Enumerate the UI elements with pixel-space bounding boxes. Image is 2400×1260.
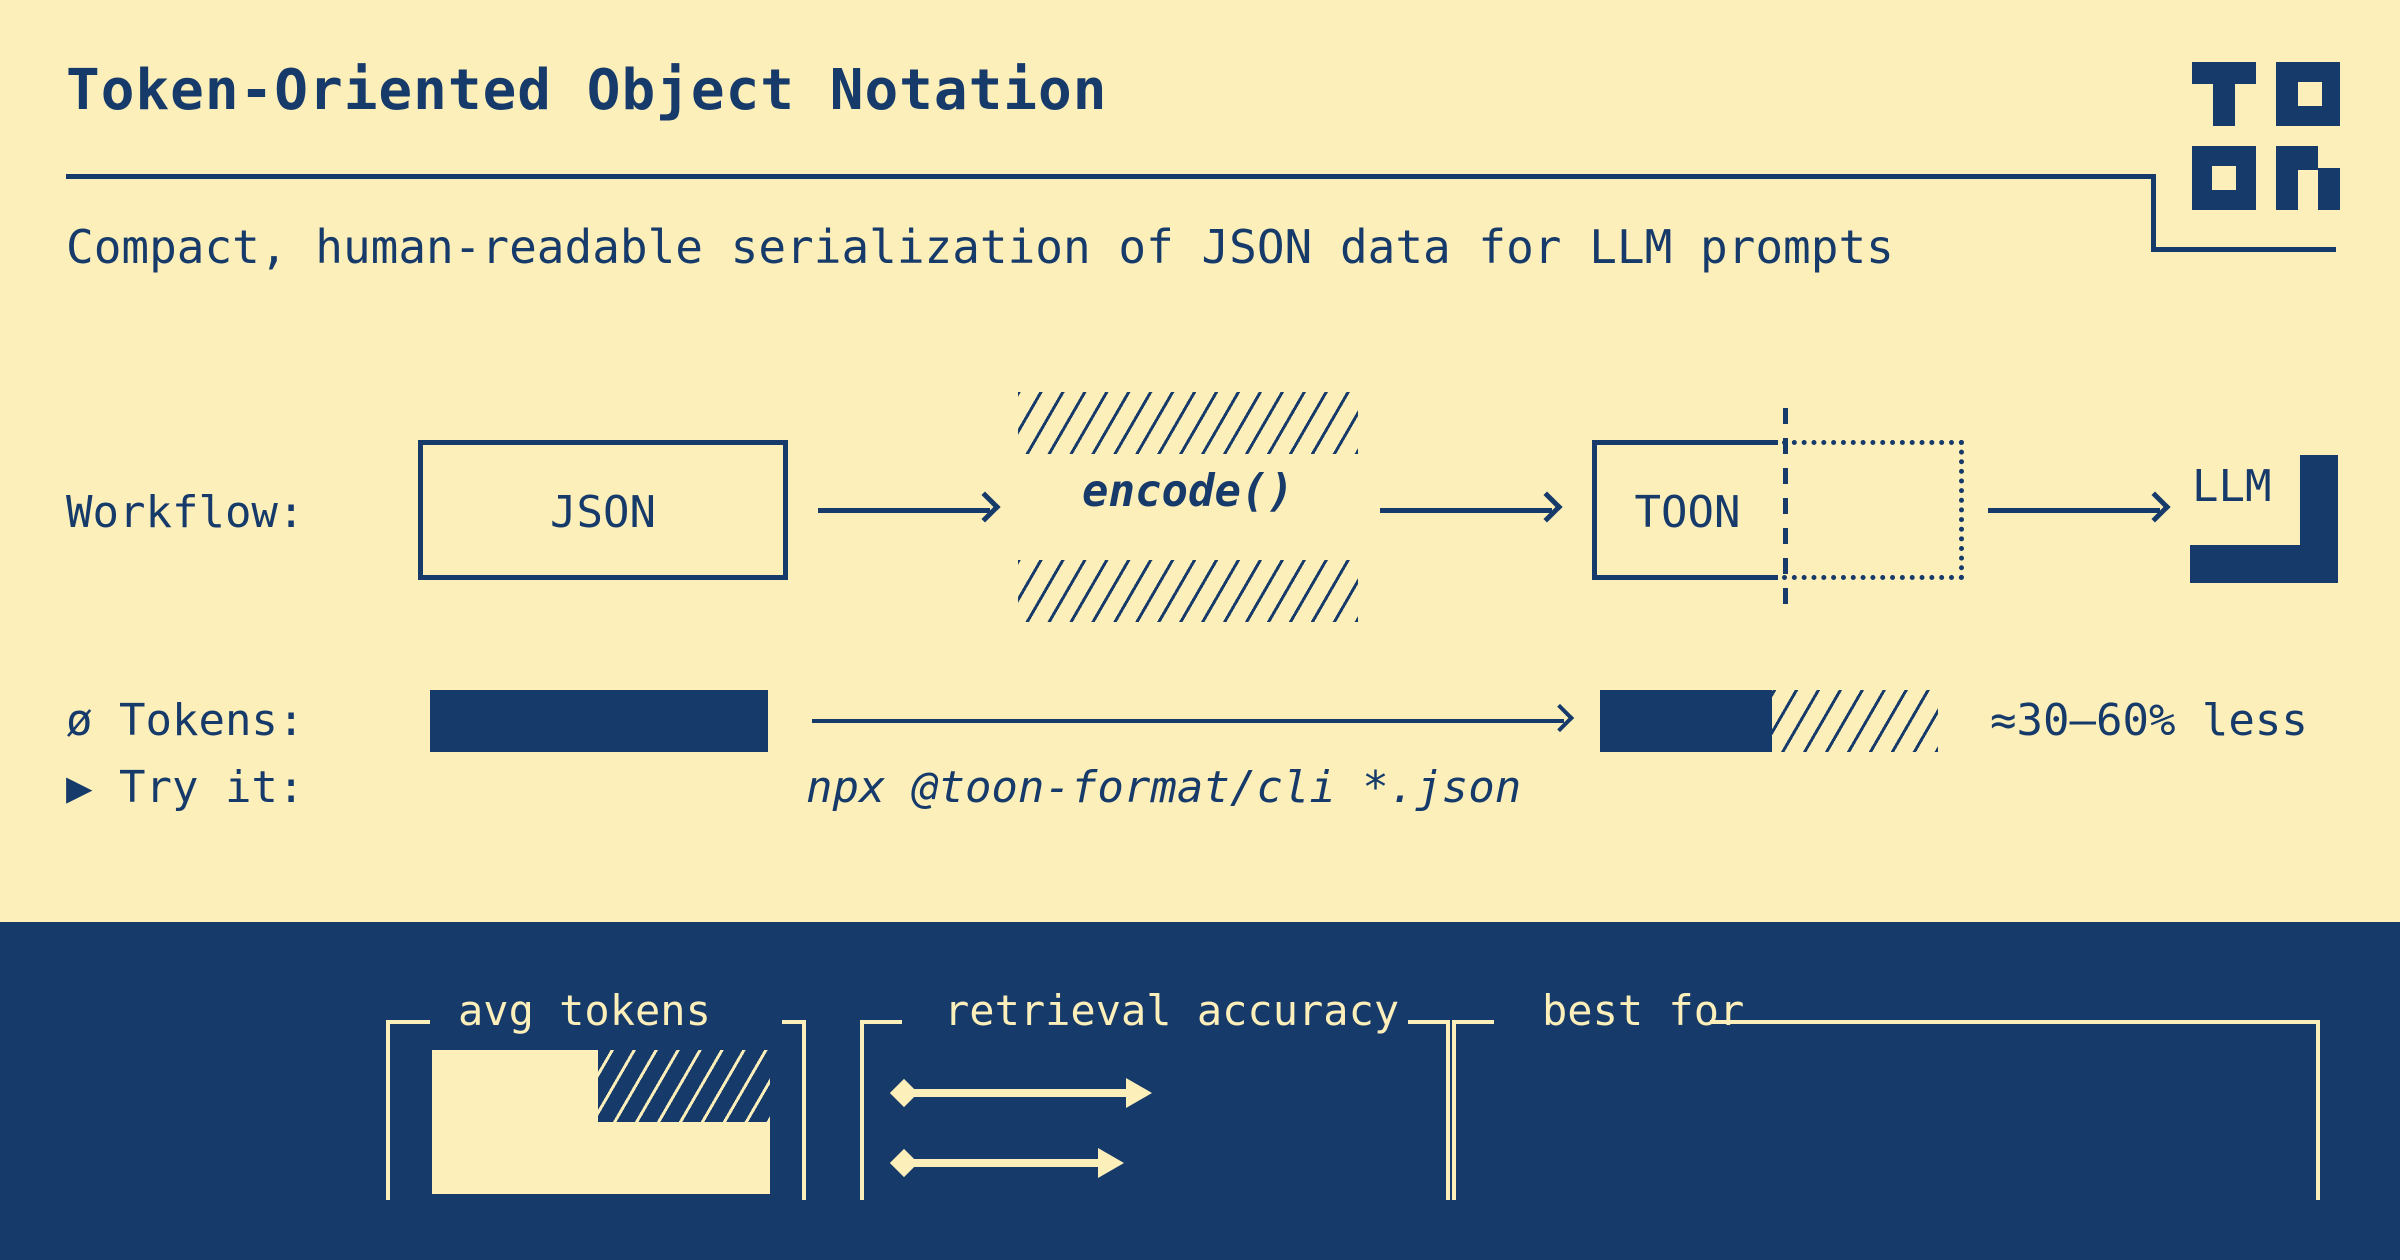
footer-row-arrow-json-icon: → bbox=[244, 1131, 268, 1177]
workflow-arrow-3-icon bbox=[1988, 490, 2178, 530]
accuracy-value-toon: 73.9% bbox=[1186, 1062, 1324, 1116]
tokens-bar-json bbox=[430, 690, 768, 752]
panel-retrieval-accuracy-title: retrieval accuracy bbox=[944, 986, 1399, 1035]
workflow-node-json: JSON bbox=[418, 440, 788, 580]
workflow-arrow-2-icon bbox=[1380, 490, 1570, 530]
workflow-node-toon-dotted bbox=[1782, 440, 1964, 580]
infographic-page: Token-Oriented Object Notation Compact, … bbox=[0, 0, 2400, 1260]
encode-hatch-bottom bbox=[1018, 560, 1358, 622]
tokens-bar-toon-hatch bbox=[1772, 690, 1938, 752]
accuracy-arrow-json-icon bbox=[894, 1148, 1128, 1178]
footer-bar-toon-hatch bbox=[598, 1050, 770, 1122]
tokens-saving-text: ≈30–60% less bbox=[1990, 695, 2308, 746]
workflow-arrow-1-icon bbox=[818, 490, 1008, 530]
page-subtitle: Compact, human-readable serialization of… bbox=[66, 220, 1894, 274]
accuracy-arrow-toon-icon bbox=[894, 1078, 1154, 1108]
workflow-node-toon-solid: TOON bbox=[1592, 440, 1778, 580]
workflow-toon-divider bbox=[1783, 408, 1788, 612]
encode-hatch-top bbox=[1018, 392, 1358, 454]
footer-bar-toon bbox=[432, 1050, 770, 1122]
panel-avg-tokens-title: avg tokens bbox=[458, 986, 711, 1035]
try-it-label: ▶ Try it: bbox=[66, 762, 304, 813]
best-for-line-toon: repeated structure • tables bbox=[1498, 1062, 2213, 1113]
workflow-node-json-label: JSON bbox=[423, 487, 783, 538]
accuracy-value-json: 69.7% bbox=[1186, 1131, 1324, 1185]
header-divider-step-horizontal bbox=[2151, 247, 2336, 252]
footer-row-label-json: JSON bbox=[66, 1131, 172, 1182]
footer-bar-toon-fill bbox=[432, 1050, 598, 1122]
workflow-label: Workflow: bbox=[66, 487, 304, 538]
llm-block-horizontal bbox=[2190, 545, 2338, 583]
logo-glyph-n bbox=[2276, 146, 2340, 210]
tokens-comparison-arrow-icon bbox=[812, 703, 1582, 739]
toon-logo bbox=[2192, 62, 2340, 210]
footer-row-arrow-toon-icon: → bbox=[244, 1062, 268, 1108]
best-for-line-json: varying fields • deep trees bbox=[1498, 1131, 2213, 1182]
header-divider bbox=[66, 174, 2156, 179]
footer-bar-json bbox=[432, 1122, 770, 1194]
workflow-node-toon: TOON bbox=[1592, 440, 1964, 580]
workflow-node-llm-label: LLM bbox=[2192, 461, 2271, 512]
tokens-bar-toon bbox=[1600, 690, 1938, 752]
logo-glyph-t bbox=[2192, 62, 2256, 126]
logo-glyph-o-2 bbox=[2192, 146, 2256, 210]
workflow-node-encode: encode() bbox=[1018, 392, 1358, 622]
header-divider-step-vertical bbox=[2151, 174, 2156, 252]
panel-best-for-title: best for bbox=[1542, 986, 1744, 1035]
footer-row-label-toon: TOON bbox=[66, 1062, 172, 1113]
logo-glyph-o-1 bbox=[2276, 62, 2340, 126]
page-title: Token-Oriented Object Notation bbox=[66, 58, 1107, 123]
workflow-node-llm: LLM bbox=[2190, 455, 2338, 583]
workflow-node-encode-label: encode() bbox=[1018, 466, 1358, 517]
workflow-node-toon-label: TOON bbox=[1597, 487, 1778, 538]
tokens-bar-toon-solid bbox=[1600, 690, 1772, 752]
avg-tokens-label: ø Tokens: bbox=[66, 695, 304, 746]
install-command[interactable]: npx @toon-format/cli *.json bbox=[806, 762, 1521, 813]
